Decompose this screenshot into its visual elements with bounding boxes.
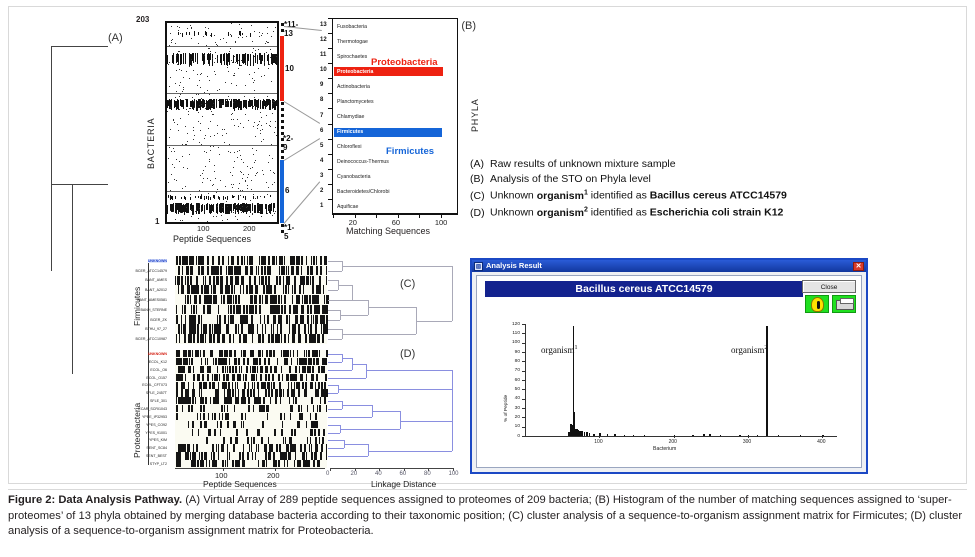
chart-minor-bar [624,435,626,436]
panel-a-group-bar-proteobacteria [280,36,284,101]
panel-b-category-label: Firmicutes [337,129,363,135]
chart-y-tick-70: 70 [509,368,520,373]
panel-a: (A) 203 1 BACTERIA 100 200 Peptide Seque… [108,14,286,246]
panel-b-xtick-60: 60 [392,218,400,227]
panel-b-category-label: Cyanobacteria [337,174,370,180]
panel-a-x-axis-label: Peptide Sequences [173,234,251,244]
panel-b-category-label: Deinococcus-Thermus [337,159,389,165]
panel-a-virtual-array [165,21,279,224]
dendrogram-branch [328,456,368,457]
panel-b-category-label: Chlamydiae [337,114,364,120]
chart-y-tick-90: 90 [509,350,520,355]
chart-y-tick-80: 80 [509,359,520,364]
chart-peak-2 [766,326,767,436]
cluster-row-label: ECAR_SCRI1043 [138,407,167,411]
panel-a-group-label-3: 6 [285,186,289,195]
panel-b-xtick-20: 20 [349,218,357,227]
chart-minor-bar [614,434,616,436]
panel-a-group-bar-firmicutes [280,160,284,223]
panel-b-row: Bacteroidetes/Chlorobi [333,185,459,200]
dendrogram-branch [328,261,342,262]
dendrogram-branch [352,364,366,365]
dendrogram-branch [352,285,353,300]
panel-cd-right-tick-40: 40 [375,471,382,477]
dendrogram-branch [368,307,416,308]
dendrogram-branch [328,425,340,426]
chart-y-tick-mark [522,408,525,409]
chart-minor-bar [748,435,750,436]
lightbulb-icon[interactable] [805,295,829,313]
chart-x-tick-100: 100 [594,439,602,445]
cluster-row-label: BANT_AMES0581 [137,298,167,302]
panel-b-x-tick-mark [419,214,420,218]
annotation-organism-2: organism2 [731,344,768,355]
panel-a-xtick-200: 200 [243,224,256,233]
dendrogram-branch [328,378,366,379]
close-button[interactable]: Close [802,280,856,293]
dendrogram-branch [452,266,453,321]
dendrogram-branch [328,401,342,402]
panel-b-x-tick-mark [376,214,377,218]
panel-b-annotation-firmicutes: Firmicutes [386,146,434,157]
chart-minor-bar [674,435,676,436]
cluster-row-label: SFLE_301 [150,399,167,403]
chart-x-tick-300: 300 [743,439,751,445]
chart-y-tick-0: 0 [509,434,520,439]
panel-cd-axes: 100200Peptide Sequences020406080100Linka… [175,468,453,484]
chart-minor-bar [586,432,588,436]
chart-minor-bar [703,434,705,436]
panel-b-category-label: Thermotogae [337,39,368,45]
window-body: Bacillus cereus ATCC14579 Close % of Pep… [476,275,862,468]
dendrogram-branch [340,429,400,430]
panel-a-xtick-100: 100 [197,224,210,233]
dendrogram-branch [342,405,372,406]
panel-b-annotation-proteobacteria: Proteobacteria [371,57,438,68]
panel-b-ytick-13: 13 [320,22,327,28]
panel-c-dendrogram [328,256,453,344]
dendrogram-branch [342,334,416,335]
cluster-row-label: ECOL_K12 [149,360,167,364]
panel-a-y-top-tick: 203 [136,15,149,24]
cluster-row-label: UNKNOWN [148,352,167,356]
chart-minor-bar [739,435,741,436]
panel-c-tag: (C) [400,278,415,290]
panel-c-side-label: Firmicutes [132,287,142,326]
cluster-row-label: ECOL_CFT073 [142,383,167,387]
chart-x-tick-mark [674,436,675,438]
panel-b-ytick-11: 11 [320,52,326,58]
panel-a-bracket-line [51,184,108,185]
panel-a-bracket-line [51,46,108,47]
legend-text-b: Analysis of the STO on Phyla level [490,173,651,185]
panel-b-ytick-mark [328,199,332,200]
chart-minor-bar [778,435,780,436]
panel-b-ytick-mark [328,184,332,185]
panel-a-x-axis: 100 200 Peptide Sequences [165,224,279,246]
panel-b-xtick-100: 100 [435,218,448,227]
cluster-row-label: ECOL_O157 [146,376,167,380]
panel-a-group-label-0: *11-13 [284,20,298,38]
chart-y-tick-mark [522,333,525,334]
dendrogram-branch [344,444,368,445]
panel-a-group-label-4: *1-5 [284,223,294,241]
panel-b-histogram: FusobacteriaThermotogaeSpirochaetesProte… [332,18,458,214]
panel-b-row: Actinobacteria [333,79,459,94]
panel-a-y-bottom-tick: 1 [155,217,159,226]
panel-cd-right-tick-mark [330,468,331,471]
dendrogram-branch [416,321,452,322]
panel-cd-right-tick-100: 100 [449,471,459,477]
dendrogram-branch [328,417,372,418]
chart-y-tick-mark [522,427,525,428]
panel-b-row: Aquificae [333,200,459,215]
panel-b-category-label: Chloroflexi [337,144,362,150]
panel-cd-left-axis-line [175,468,325,469]
chart-x-tick-mark [599,436,600,438]
chart-y-tick-60: 60 [509,378,520,383]
panel-b-row: Fusobacteria [333,19,459,34]
chart-y-axis-line [525,324,526,436]
dendrogram-branch [328,271,342,272]
chart-y-tick-mark [522,389,525,390]
panel-b-category-label: Proteobacteria [337,69,373,75]
chart-x-axis-line [525,436,837,437]
panel-a-bracket-vertical [72,184,73,374]
legend-line-d: (D)Unknown organism2 identified as Esche… [470,203,890,220]
panel-b-ytick-mark [328,124,332,125]
chart-minor-bar [593,434,595,436]
chart-y-tick-10: 10 [509,424,520,429]
panel-b-ytick-mark [328,154,332,155]
dendrogram-branch [328,440,344,441]
figure-2-container: (A) 203 1 BACTERIA 100 200 Peptide Seque… [0,0,975,557]
panel-b-ytick-7: 7 [320,113,323,119]
panel-cd-right-tick-0: 0 [326,471,329,477]
dendrogram-branch [328,409,342,410]
panel-c-heatmap [175,256,327,344]
panel-b-row: Chlamydiae [333,109,459,124]
caption-title: Figure 2: Data Analysis Pathway. [8,494,182,506]
dendrogram-branch [328,385,338,386]
cluster-row-label: BCER_ATCC10987 [136,337,168,341]
dendrogram-branch [452,370,453,450]
dendrogram-branch [338,389,452,390]
window-title: Analysis Result [486,261,542,270]
cluster-row-label: BTHU_97_27 [145,327,167,331]
panel-b-ytick-2: 2 [320,188,323,194]
cluster-row-label: BCER_ZK [150,318,167,322]
legend-tag-d: (D) [470,206,490,221]
panel-a-tag: (A) [108,32,123,44]
panel-a-group-dots [281,102,284,162]
panel-b-ytick-3: 3 [320,173,323,179]
chart-x-axis-label: Bacterium [653,446,676,452]
panel-cd-right-tick-20: 20 [351,471,358,477]
chart-y-tick-mark [522,399,525,400]
dendrogram-branch [328,433,340,434]
cluster-row-label: YPES_91001 [145,431,167,435]
chart-y-tick-mark [522,324,525,325]
chart-y-tick-mark [522,417,525,418]
panel-a-group-label-2: *2-9 [283,134,293,152]
chart-minor-bar [589,433,591,436]
chart-y-tick-100: 100 [509,340,520,345]
panel-b-category-label: Planctomycetes [337,99,374,105]
chart-minor-bar [644,435,646,436]
cluster-row-label: BANT_AMES [145,278,167,282]
panel-b-ytick-12: 12 [320,37,327,43]
panel-b-x-axis-line [332,214,458,215]
dendrogram-branch [328,393,338,394]
panel-b-row: Thermotogae [333,34,459,49]
dendrogram-branch [328,354,342,355]
cluster-row-label: YPES_CO92 [146,423,167,427]
chart-minor-bar [757,435,759,436]
dendrogram-branch [328,280,338,281]
dendrogram-branch [368,451,452,452]
panel-b-category-label: Aquificae [337,204,358,210]
cluster-row-label: SFLE_2457T [146,391,167,395]
panel-b-ytick-mark [328,169,332,170]
legend-line-b: (B)Analysis of the STO on Phyla level [470,172,890,187]
panel-legend-text: (A)Raw results of unknown mixture sample… [470,157,890,220]
legend-line-a: (A)Raw results of unknown mixture sample [470,157,890,172]
panel-b-ytick-mark [328,48,332,49]
panel-cd-right-tick-60: 60 [400,471,407,477]
panel-d-dendrogram [328,350,453,468]
panel-cd: Firmicutes Proteobacteria UNKNOWNBCER_AT… [128,256,458,484]
panel-b-ytick-mark [328,108,332,109]
legend-tag-c: (C) [470,189,490,204]
printer-icon[interactable] [832,295,856,313]
panel-cd-left-axis-label: Peptide Sequences [203,479,277,489]
legend-text-a: Raw results of unknown mixture sample [490,158,676,170]
panel-b-row: Planctomycetes [333,94,459,109]
window-title-bar[interactable]: ▩ Analysis Result ✕ [472,260,866,272]
chart-minor-bar [822,435,824,436]
dendrogram-branch [366,370,452,371]
cluster-row-label: SENT_BEST [146,454,167,458]
panel-cd-right-axis-label: Linkage Distance [371,479,436,489]
dendrogram-branch [328,448,344,449]
chart-x-tick-200: 200 [669,439,677,445]
panel-b-ytick-1: 1 [320,203,323,209]
panel-a-group-label-1: 10 [285,64,294,73]
panel-b-ytick-10: 10 [320,67,327,73]
panel-b-ytick-8: 8 [320,97,323,103]
chart-y-tick-110: 110 [509,331,520,336]
chart-icon: ▩ [474,262,483,271]
analysis-result-window[interactable]: ▩ Analysis Result ✕ Bacillus cereus ATCC… [470,258,868,474]
dendrogram-branch [328,329,342,330]
panel-b-x-tick-mark [333,214,334,218]
panel-b-category-label: Actinobacteria [337,84,370,90]
dendrogram-branch [338,285,352,286]
chart-y-tick-mark [522,352,525,353]
result-header: Bacillus cereus ATCC14579 [485,281,803,297]
dendrogram-branch [352,300,368,301]
panel-b-y-axis-label: PHYLA [470,98,480,132]
figure-caption: Figure 2: Data Analysis Pathway. (A) Vir… [8,489,967,540]
panel-b-x-axis-label: Matching Sequences [346,226,430,236]
dendrogram-branch [328,339,342,340]
legend-line-c: (C)Unknown organism1 identified as Bacil… [470,186,890,203]
close-icon[interactable]: ✕ [853,262,864,271]
dendrogram-branch [328,362,342,363]
chart-x-tick-mark [748,436,749,438]
panel-b-category-label: Fusobacteria [337,24,367,30]
panel-b-ytick-mark [328,33,332,34]
chart-x-tick-400: 400 [817,439,825,445]
panel-b: (B) FusobacteriaThermotogaeSpirochaetesP… [314,14,482,246]
panel-b-ytick-mark [328,93,332,94]
legend-tag-b: (B) [470,172,490,187]
cluster-row-label: YPEE_IP32953 [142,415,167,419]
panel-b-ytick-6: 6 [320,128,323,134]
cluster-row-label: YPES_KIM [149,438,167,442]
chart-y-tick-50: 50 [509,387,520,392]
chart-minor-bar [800,435,802,436]
chart-peak-1 [573,326,574,436]
panel-a-y-axis-label: BACTERIA [146,118,156,169]
chart-y-tick-mark [522,371,525,372]
cluster-row-label: SENT_SC84 [146,446,167,450]
cluster-row-label: BANT_A2012 [145,288,167,292]
panel-b-ytick-4: 4 [320,158,323,164]
panel-b-ytick-mark [328,139,332,140]
panel-b-ytick-mark [328,78,332,79]
panel-b-tag: (B) [461,20,476,32]
dendrogram-branch [328,320,340,321]
dendrogram-branch [372,411,400,412]
dendrogram-branch [342,358,352,359]
chart-y-tick-40: 40 [509,396,520,401]
cluster-row-label: UNKNOWN [148,259,167,263]
chart-minor-bar [709,434,711,436]
chart-minor-bar [599,433,601,436]
cluster-row-label: ECOL_O6 [150,368,167,372]
dendrogram-branch [328,290,338,291]
panel-cd-right-axis-line [330,468,453,469]
chart-minor-bar [633,435,635,436]
chart-y-tick-120: 120 [509,322,520,327]
chart-minor-bar [720,435,722,436]
panel-b-ytick-5: 5 [320,143,323,149]
panel-b-ytick-mark [328,63,332,64]
cluster-row-label: BCER_ATCC14579 [136,269,168,273]
dendrogram-branch [400,421,452,422]
panel-b-ytick-9: 9 [320,82,323,88]
panel-b-row: Cyanobacteria [333,170,459,185]
dendrogram-branch [340,315,368,316]
panel-b-category-label: Spirochaetes [337,54,367,60]
chart-y-tick-mark [522,361,525,362]
dendrogram-branch [328,300,352,301]
dendrogram-branch [342,266,452,267]
panel-a-bracket-vertical [51,46,52,271]
chart-y-tick-30: 30 [509,406,520,411]
panel-cd-right-tick-80: 80 [424,471,431,477]
cluster-row-label: BANH_STERNE [140,308,167,312]
chart-minor-bar [692,435,694,436]
chart-minor-bar [607,434,609,436]
chart-x-tick-mark [822,436,823,438]
dendrogram-branch [328,310,340,311]
panel-b-ytick-mark [328,18,332,19]
panel-b-category-label: Bacteroidetes/Chlorobi [337,189,389,195]
chart-y-tick-mark [522,380,525,381]
peptide-spectrum-chart: % of Peptide organism1 organism2 Bacteri… [503,318,843,458]
panel-d-tag: (D) [400,348,415,360]
chart-y-tick-mark [522,343,525,344]
panel-d-heatmap [175,350,327,468]
panel-b-row: Firmicutes [333,125,459,140]
cluster-row-label: STYP_LT2 [150,462,167,466]
dendrogram-branch [328,370,352,371]
legend-tag-a: (A) [470,157,490,172]
chart-y-tick-20: 20 [509,415,520,420]
